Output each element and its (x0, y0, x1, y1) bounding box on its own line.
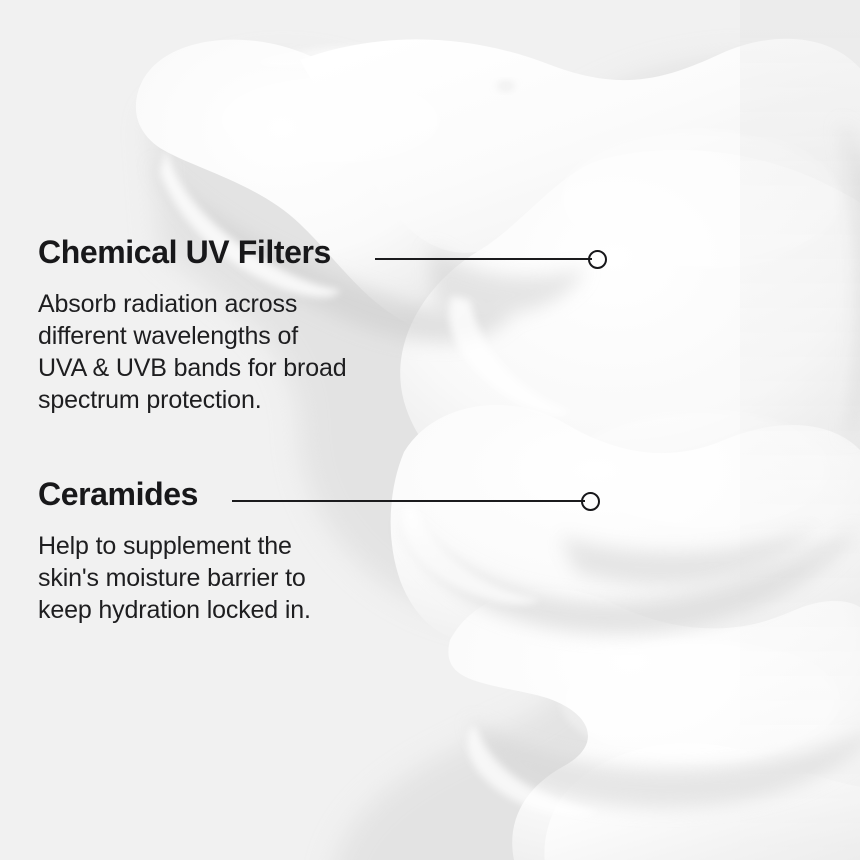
annotation-body: Help to supplement the skin's moisture b… (38, 530, 311, 626)
annotation-body: Absorb radiation across different wavele… (38, 288, 346, 416)
circle-endpoint-icon (588, 250, 607, 269)
connector-line (375, 258, 592, 260)
connector-line (232, 500, 585, 502)
circle-endpoint-icon (581, 492, 600, 511)
infographic-canvas: Chemical UV Filters Absorb radiation acr… (0, 0, 860, 860)
annotation-body-line: spectrum protection. (38, 384, 346, 416)
annotation-body-line: keep hydration locked in. (38, 594, 311, 626)
annotation-body-line: skin's moisture barrier to (38, 562, 311, 594)
annotation-body-line: different wavelengths of (38, 320, 346, 352)
annotation-chemical-uv-filters: Chemical UV Filters Absorb radiation acr… (38, 232, 346, 416)
connector-line-with-circle-icon (232, 492, 600, 510)
annotation-body-line: Absorb radiation across (38, 288, 346, 320)
annotation-body-line: Help to supplement the (38, 530, 311, 562)
cream-swatch-illustration (0, 0, 860, 860)
annotation-heading: Chemical UV Filters (38, 232, 346, 272)
connector-line-with-circle-icon (375, 250, 607, 268)
annotation-body-line: UVA & UVB bands for broad (38, 352, 346, 384)
